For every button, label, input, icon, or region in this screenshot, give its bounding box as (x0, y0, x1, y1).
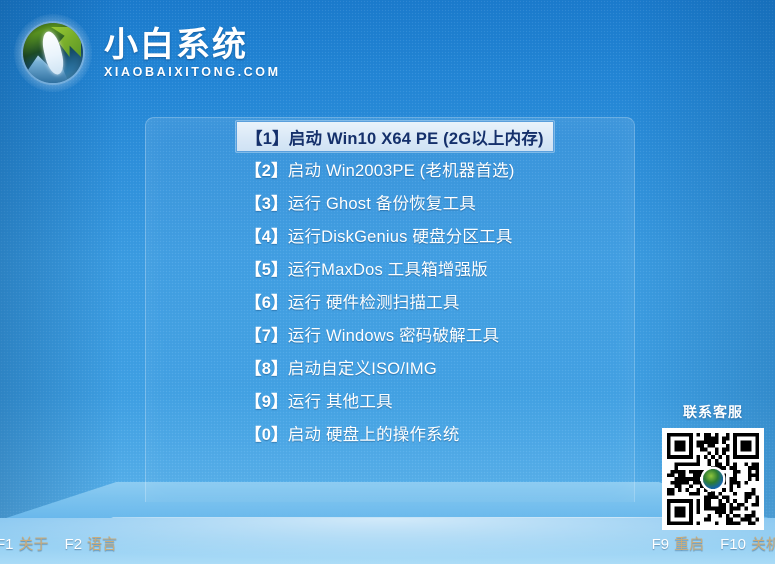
menu-item-label: 运行DiskGenius 硬盘分区工具 (288, 223, 513, 247)
menu-item-key: 【4】 (245, 223, 288, 247)
hotkey-f2[interactable]: F2 (65, 536, 83, 553)
menu-item-boot-win10-x64-pe[interactable]: 【1】启动 Win10 X64 PE (2G以上内存) (236, 121, 554, 152)
hotkey-f10-label[interactable]: 关机 (751, 536, 775, 553)
menu-item-run-windows-password-tool[interactable]: 【7】运行 Windows 密码破解工具 (236, 317, 554, 350)
footer-hotkeys-left: F1关于F2语言 (0, 533, 117, 554)
menu-item-key: 【5】 (245, 256, 288, 280)
menu-item-key: 【6】 (245, 289, 288, 313)
brand-name-en: XIAOBAIXITONG.COM (104, 65, 281, 79)
brand-logo: 小白系统 XIAOBAIXITONG.COM (14, 14, 281, 92)
hotkey-f1-label[interactable]: 关于 (19, 536, 49, 553)
qr-center-logo-icon (703, 469, 723, 489)
hotkey-f1[interactable]: F1 (0, 536, 14, 553)
menu-item-key: 【2】 (245, 157, 288, 181)
menu-item-label: 启动 Win10 X64 PE (2G以上内存) (289, 125, 544, 149)
menu-item-label: 运行MaxDos 工具箱增强版 (288, 256, 488, 280)
menu-item-key: 【8】 (245, 355, 288, 379)
support-label: 联系客服 (654, 402, 772, 422)
qr-code-icon[interactable] (662, 428, 764, 530)
boot-menu-panel: 【1】启动 Win10 X64 PE (2G以上内存)【2】启动 Win2003… (145, 117, 635, 502)
boot-menu-screen: 小白系统 XIAOBAIXITONG.COM 【1】启动 Win10 X64 P… (0, 0, 775, 564)
menu-item-key: 【0】 (245, 421, 288, 445)
menu-item-run-other-tools[interactable]: 【9】运行 其他工具 (236, 383, 554, 416)
logo-disc (23, 23, 83, 83)
menu-item-run-maxdos[interactable]: 【5】运行MaxDos 工具箱增强版 (236, 251, 554, 284)
menu-item-label: 运行 硬件检测扫描工具 (288, 289, 460, 313)
menu-item-label: 启动 Win2003PE (老机器首选) (288, 157, 515, 181)
menu-item-label: 运行 Ghost 备份恢复工具 (288, 190, 476, 214)
customer-support-block: 联系客服 (654, 402, 772, 530)
menu-item-key: 【9】 (245, 388, 288, 412)
footer-hotkeys-right: F9重启F10关机 (652, 533, 775, 554)
menu-item-boot-custom-iso-img[interactable]: 【8】启动自定义ISO/IMG (236, 350, 554, 383)
menu-item-label: 运行 Windows 密码破解工具 (288, 322, 500, 346)
menu-item-boot-hdd-os[interactable]: 【0】启动 硬盘上的操作系统 (236, 416, 554, 449)
boot-menu-list[interactable]: 【1】启动 Win10 X64 PE (2G以上内存)【2】启动 Win2003… (236, 121, 554, 449)
menu-item-key: 【7】 (245, 322, 288, 346)
menu-item-key: 【3】 (245, 190, 288, 214)
hotkey-f9-label[interactable]: 重启 (674, 536, 704, 553)
menu-item-run-hardware-scan-tool[interactable]: 【6】运行 硬件检测扫描工具 (236, 284, 554, 317)
menu-item-label: 运行 其他工具 (288, 388, 393, 412)
menu-item-run-ghost-backup-tool[interactable]: 【3】运行 Ghost 备份恢复工具 (236, 185, 554, 218)
hotkey-f2-label[interactable]: 语言 (87, 536, 117, 553)
brand-text: 小白系统 XIAOBAIXITONG.COM (104, 27, 281, 79)
menu-item-boot-win2003-pe[interactable]: 【2】启动 Win2003PE (老机器首选) (236, 152, 554, 185)
hotkey-f10[interactable]: F10 (720, 536, 746, 553)
brand-name-cn: 小白系统 (104, 27, 281, 64)
menu-item-label: 启动自定义ISO/IMG (288, 355, 437, 379)
menu-item-label: 启动 硬盘上的操作系统 (288, 421, 460, 445)
menu-item-key: 【1】 (246, 125, 289, 149)
hotkey-f9[interactable]: F9 (652, 536, 670, 553)
refresh-circle-logo-icon (14, 14, 92, 92)
menu-item-run-diskgenius[interactable]: 【4】运行DiskGenius 硬盘分区工具 (236, 218, 554, 251)
